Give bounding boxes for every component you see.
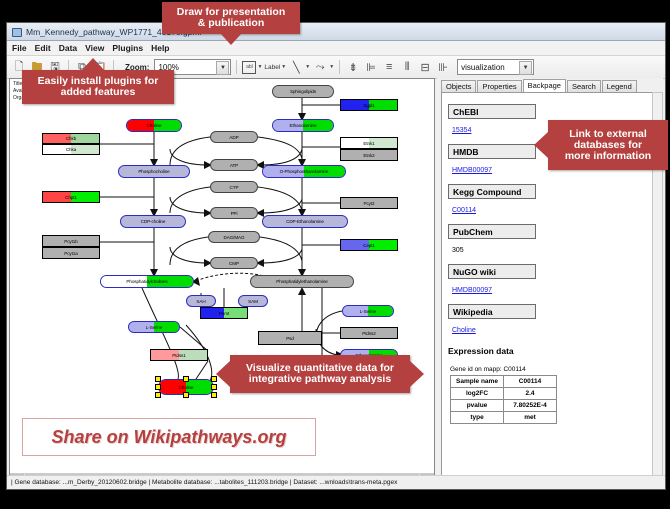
tab-backpage[interactable]: Backpage (523, 79, 566, 92)
node-label: Psd (286, 336, 294, 341)
tab-properties[interactable]: Properties (477, 80, 521, 92)
node-label: Sphingolipids (290, 89, 316, 94)
pathway-node-cdp_choline[interactable]: CDP-choline (120, 215, 186, 228)
db-header-pubchem: PubChem (448, 224, 536, 239)
pathway-node-psd[interactable]: Psd (258, 331, 322, 345)
menu-item-view[interactable]: View (85, 43, 104, 53)
node-label: Sgpl1 (363, 103, 374, 108)
pathway-node-ptdss1[interactable]: Ptdss1 (150, 349, 208, 361)
node-label: Pcyt2 (364, 201, 375, 206)
node-label: L-Serine (360, 309, 377, 314)
pathway-node-chpt1[interactable]: Chpt1 (42, 191, 100, 203)
screenshot-root: Mm_Kennedy_pathway_WP1771_45176.gpml Fil… (0, 0, 670, 509)
callout-plugins-arrow-icon (82, 58, 104, 70)
callout-visualize-line2: integrative pathway analysis (249, 374, 391, 385)
pathway-node-ptdss2[interactable]: Ptdss2 (340, 327, 398, 339)
tab-search[interactable]: Search (567, 80, 601, 92)
pathway-node-ethanolamine[interactable]: Ethanolamine (272, 119, 334, 132)
pathway-node-ppi[interactable]: PPi (210, 207, 258, 219)
pathway-node-dagmag[interactable]: DAG/MAG (208, 231, 260, 243)
pathway-node-sgpl1[interactable]: Sgpl1 (340, 99, 398, 111)
node-label: PPi (231, 211, 238, 216)
toolbar-separator-4 (339, 60, 340, 74)
pathway-node-chka[interactable]: Chka (42, 144, 100, 155)
callout-visualize-arrow-right-icon (410, 361, 424, 387)
node-label: Pemt (219, 311, 229, 316)
node-label: ATP (230, 163, 238, 168)
expression-value: 2.4 (504, 388, 557, 400)
expression-data-heading: Expression data (448, 346, 650, 356)
expression-table: Sample nameC00114log2FC2.4pvalue7.80252E… (450, 375, 557, 424)
node-label: Chka (66, 147, 76, 152)
node-half-right (290, 332, 321, 344)
pathway-canvas[interactable]: Title: Availa Organi (10, 79, 434, 473)
label-tool-label: Label (264, 64, 280, 71)
chevron-down-icon[interactable]: ▼ (329, 64, 334, 70)
pathway-node-l_serine_left[interactable]: L-Serine (128, 321, 180, 333)
visualization-value: visualization (461, 63, 505, 72)
label-tool[interactable]: Label ▼ (264, 64, 286, 71)
expression-row: typemet (451, 412, 557, 424)
expression-key: type (451, 412, 504, 424)
pathway-node-cdp_ethanolamine[interactable]: CDP-Ethanolamine (262, 215, 348, 228)
selection-handle[interactable] (155, 392, 161, 398)
expression-row: log2FC2.4 (451, 388, 557, 400)
db-link-hmdb[interactable]: HMDB00097 (452, 167, 492, 174)
expression-key: Sample name (451, 376, 504, 388)
chevron-down-icon[interactable]: ▼ (519, 61, 532, 75)
node-label: Pcyt1a (64, 251, 77, 256)
status-text: | Gene database: ...m_Derby_20120602.bri… (11, 479, 397, 486)
tab-legend[interactable]: Legend (602, 80, 637, 92)
callout-visualize-arrow-icon (216, 361, 230, 387)
db-value-row: Choline (448, 319, 650, 337)
expression-value: met (504, 412, 557, 424)
db-value-pubchem: 305 (452, 247, 464, 254)
node-label: DAG/MAG (224, 235, 245, 240)
callout-draw-for-publication: Draw for presentation & publication (162, 2, 300, 34)
node-label: Phosphocholine (138, 169, 169, 174)
pathway-node-l_serine_right[interactable]: L-Serine (342, 305, 394, 317)
status-bar: | Gene database: ...m_Derby_20120602.bri… (7, 475, 665, 489)
side-panel-tabs: ObjectsPropertiesBackpageSearchLegend (437, 78, 663, 92)
distribute-horizontal-icon[interactable]: ⦀ (399, 59, 415, 75)
db-link-chebi[interactable]: 15354 (452, 127, 471, 134)
pathway-node-sphingolipids[interactable]: Sphingolipids (272, 85, 334, 98)
pathway-node-o_phosphoethanolamine[interactable]: O-Phosphoethanolamine (262, 165, 346, 178)
pathway-node-sah[interactable]: SAH (186, 295, 216, 307)
node-label: Etnk2 (363, 153, 374, 158)
callout-links-line2: databases for (574, 140, 642, 151)
node-label: CDP-Ethanolamine (286, 219, 324, 224)
pathway-node-pcyt1b[interactable]: Pcyt1b (42, 235, 100, 247)
visualization-combo[interactable]: visualization ▼ (457, 59, 534, 75)
menu-item-help[interactable]: Help (151, 43, 169, 53)
chevron-down-icon[interactable]: ▼ (281, 64, 286, 70)
toolbar-separator-3 (236, 60, 237, 74)
pathway-node-ctp[interactable]: CTP (210, 181, 258, 193)
same-width-icon[interactable]: ⊟ (417, 59, 433, 75)
menu-item-edit[interactable]: Edit (35, 43, 51, 53)
selection-handle[interactable] (155, 376, 161, 382)
expression-row: Sample nameC00114 (451, 376, 557, 388)
selection-handle[interactable] (183, 376, 189, 382)
chevron-down-icon[interactable]: ▼ (216, 61, 229, 75)
pathway-node-phosphatidylethanolamine[interactable]: Phosphatidylethanolamine (250, 275, 354, 288)
pathway-node-cmp[interactable]: CMP (210, 257, 258, 269)
callout-external-links: Link to external databases for more info… (548, 120, 668, 170)
node-label: CTP (230, 185, 239, 190)
node-label: L-Serine (146, 325, 163, 330)
node-label: O-Phosphoethanolamine (280, 169, 329, 174)
menu-item-file[interactable]: File (12, 43, 27, 53)
node-label: ADP (229, 135, 238, 140)
expression-key: log2FC (451, 388, 504, 400)
selection-handle[interactable] (211, 392, 217, 398)
pathway-node-pcyt1a[interactable]: Pcyt1a (42, 247, 100, 259)
pathway-node-chkb[interactable]: Chkb (42, 133, 100, 144)
node-label: Phosphatidylethanolamine (276, 279, 328, 284)
node-label: Choline (179, 385, 194, 390)
node-label: Choline (147, 123, 162, 128)
db-header-chebi: ChEBI (448, 104, 536, 119)
datanode-icon[interactable]: abl (242, 61, 256, 74)
db-value-row: 305 (448, 239, 650, 257)
line-tool[interactable]: ╲ ▼ (288, 59, 310, 75)
gene-id-line: Gene id on mapp: C00114 (450, 366, 650, 373)
pathway-node-phosphatidylcholines[interactable]: Phosphatidylcholines (100, 275, 194, 288)
node-label: Pcyt1b (64, 239, 77, 244)
db-header-kegg-compound: Kegg Compound (448, 184, 536, 199)
share-banner: Share on Wikipathways.org (22, 418, 316, 456)
callout-links-line1: Link to external (569, 129, 647, 140)
callout-links-arrow-icon (534, 132, 548, 158)
node-label: Ptdss2 (362, 331, 375, 336)
node-label: Cept1 (363, 243, 375, 248)
pathway-node-sam[interactable]: SAM (238, 295, 268, 307)
pathway-node-atp[interactable]: ATP (210, 159, 258, 171)
node-label: Phosphatidylcholines (126, 279, 167, 284)
node-label: Ptdss1 (172, 353, 185, 358)
pathway-node-etnk2[interactable]: Etnk2 (340, 149, 398, 161)
pathway-node-phosphocholine[interactable]: Phosphocholine (118, 165, 190, 178)
interaction-icon[interactable]: ⤳ (312, 59, 328, 75)
node-label: Etnk1 (363, 141, 374, 146)
expression-value: 7.80252E-4 (504, 400, 557, 412)
node-label: SAH (196, 299, 205, 304)
node-label: SAM (248, 299, 258, 304)
node-label: Ethanolamine (290, 123, 317, 128)
app-icon (12, 27, 22, 37)
pathway-node-pemt[interactable]: Pemt (200, 307, 248, 319)
pathway-node-adp[interactable]: ADP (210, 131, 258, 143)
node-label: Chpt1 (65, 195, 77, 200)
expression-key: pvalue (451, 400, 504, 412)
callout-install-plugins: Easily install plugins for added feature… (22, 70, 174, 104)
align-top-icon[interactable]: ⇟ (345, 59, 361, 75)
callout-visualize-data: Visualize quantitative data for integrat… (230, 355, 410, 393)
db-header-wikipedia: Wikipedia (448, 304, 536, 319)
selection-handle[interactable] (183, 392, 189, 398)
pathway-node-pcyt2[interactable]: Pcyt2 (340, 197, 398, 209)
db-link-wikipedia[interactable]: Choline (452, 327, 476, 334)
node-label: CMP (229, 261, 239, 266)
same-height-icon[interactable]: ⊪ (435, 59, 451, 75)
expression-value: C00114 (504, 376, 557, 388)
callout-draw-line2: & publication (198, 18, 265, 29)
menu-item-data[interactable]: Data (59, 43, 77, 53)
selection-handle[interactable] (155, 384, 161, 390)
menu-item-plugins[interactable]: Plugins (112, 43, 143, 53)
chevron-down-icon[interactable]: ▼ (257, 64, 262, 70)
pathway-node-cept1[interactable]: Cept1 (340, 239, 398, 251)
callout-links-line3: more information (565, 151, 651, 162)
distribute-vertical-icon[interactable]: ≡ (381, 59, 397, 75)
callout-draw-arrow-icon (220, 33, 242, 45)
db-header-hmdb: HMDB (448, 144, 536, 159)
datanode-tool[interactable]: abl ▼ (242, 61, 262, 74)
line-icon[interactable]: ╲ (288, 59, 304, 75)
tab-objects[interactable]: Objects (441, 80, 476, 92)
pathway-node-choline_top[interactable]: Choline (126, 119, 182, 132)
db-link-nugo-wiki[interactable]: HMDB00097 (452, 287, 492, 294)
expression-row: pvalue7.80252E-4 (451, 400, 557, 412)
callout-plugins-line2: added features (61, 87, 136, 98)
pathway-node-etnk1[interactable]: Etnk1 (340, 137, 398, 149)
node-label: Chkb (66, 136, 76, 141)
chevron-down-icon[interactable]: ▼ (305, 64, 310, 70)
db-value-row: HMDB00097 (448, 279, 650, 297)
db-header-nugo-wiki: NuGO wiki (448, 264, 536, 279)
db-value-row: C00114 (448, 199, 650, 217)
title-bar: Mm_Kennedy_pathway_WP1771_45176.gpml (7, 23, 665, 41)
db-link-kegg-compound[interactable]: C00114 (452, 207, 476, 214)
menu-bar: File Edit Data View Plugins Help (7, 41, 665, 56)
interaction-tool[interactable]: ⤳ ▼ (312, 59, 334, 75)
align-left-icon[interactable]: ⊫ (363, 59, 379, 75)
node-label: CDP-choline (141, 219, 166, 224)
